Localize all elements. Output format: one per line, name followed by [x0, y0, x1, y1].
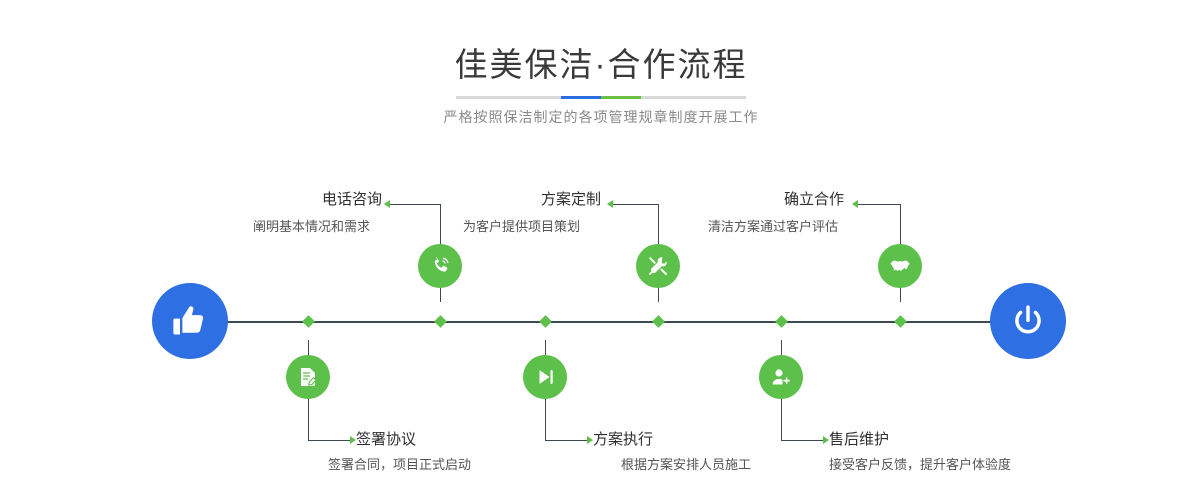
power-icon	[1009, 302, 1047, 340]
step-title-sign-agreement: 签署协议	[356, 428, 416, 449]
step-desc-sign-agreement: 签署合同，项目正式启动	[328, 454, 471, 473]
step-desc-establish-cooperation: 清洁方案通过客户评估	[708, 216, 838, 235]
connector-arrow	[384, 200, 390, 208]
connector-horizontal	[545, 440, 587, 441]
axis-dot	[652, 315, 665, 328]
page-subtitle: 严格按照保洁制定的各项管理规章制度开展工作	[0, 107, 1202, 127]
step-title-establish-cooperation: 确立合作	[784, 188, 844, 209]
connector-horizontal	[613, 204, 658, 205]
step-title-phone-consult: 电话咨询	[322, 188, 382, 209]
step-desc-after-sales: 接受客户反馈，提升客户体验度	[829, 454, 1011, 473]
step-icon-establish-cooperation	[878, 244, 922, 288]
step-title-plan-custom: 方案定制	[541, 188, 601, 209]
step-title-after-sales: 售后维护	[829, 428, 889, 449]
page-title: 佳美保洁·合作流程	[0, 38, 1202, 86]
step-icon-plan-execute	[523, 355, 567, 399]
step-desc-plan-execute: 根据方案安排人员施工	[621, 454, 751, 473]
divider-segment-blue	[561, 96, 601, 99]
divider-segment-green	[601, 96, 641, 99]
title-divider	[456, 96, 746, 99]
connector-horizontal	[390, 204, 440, 205]
connector-horizontal	[781, 440, 823, 441]
axis-dot	[539, 315, 552, 328]
document-edit-icon	[296, 365, 320, 389]
connector-horizontal	[308, 440, 350, 441]
step-icon-after-sales	[759, 355, 803, 399]
step-title-plan-execute: 方案执行	[593, 428, 653, 449]
step-icon-phone-consult	[418, 244, 462, 288]
step-desc-plan-custom: 为客户提供项目策划	[463, 216, 580, 235]
tools-icon	[646, 254, 670, 278]
axis-dot	[302, 315, 315, 328]
step-icon-sign-agreement	[286, 355, 330, 399]
phone-call-icon	[428, 254, 452, 278]
axis-dot	[434, 315, 447, 328]
step-desc-phone-consult: 阐明基本情况和需求	[253, 216, 370, 235]
handshake-icon	[888, 254, 912, 278]
timeline-end-node	[990, 283, 1066, 359]
connector-arrow	[607, 200, 613, 208]
axis-dot	[894, 315, 907, 328]
support-agent-icon	[769, 365, 793, 389]
flow-diagram: 佳美保洁·合作流程 严格按照保洁制定的各项管理规章制度开展工作	[0, 0, 1202, 502]
thumbs-up-icon	[171, 302, 209, 340]
timeline-start-node	[152, 283, 228, 359]
play-skip-icon	[534, 366, 556, 388]
axis-dot	[775, 315, 788, 328]
step-icon-plan-custom	[636, 244, 680, 288]
connector-arrow	[852, 200, 858, 208]
connector-horizontal	[858, 204, 900, 205]
